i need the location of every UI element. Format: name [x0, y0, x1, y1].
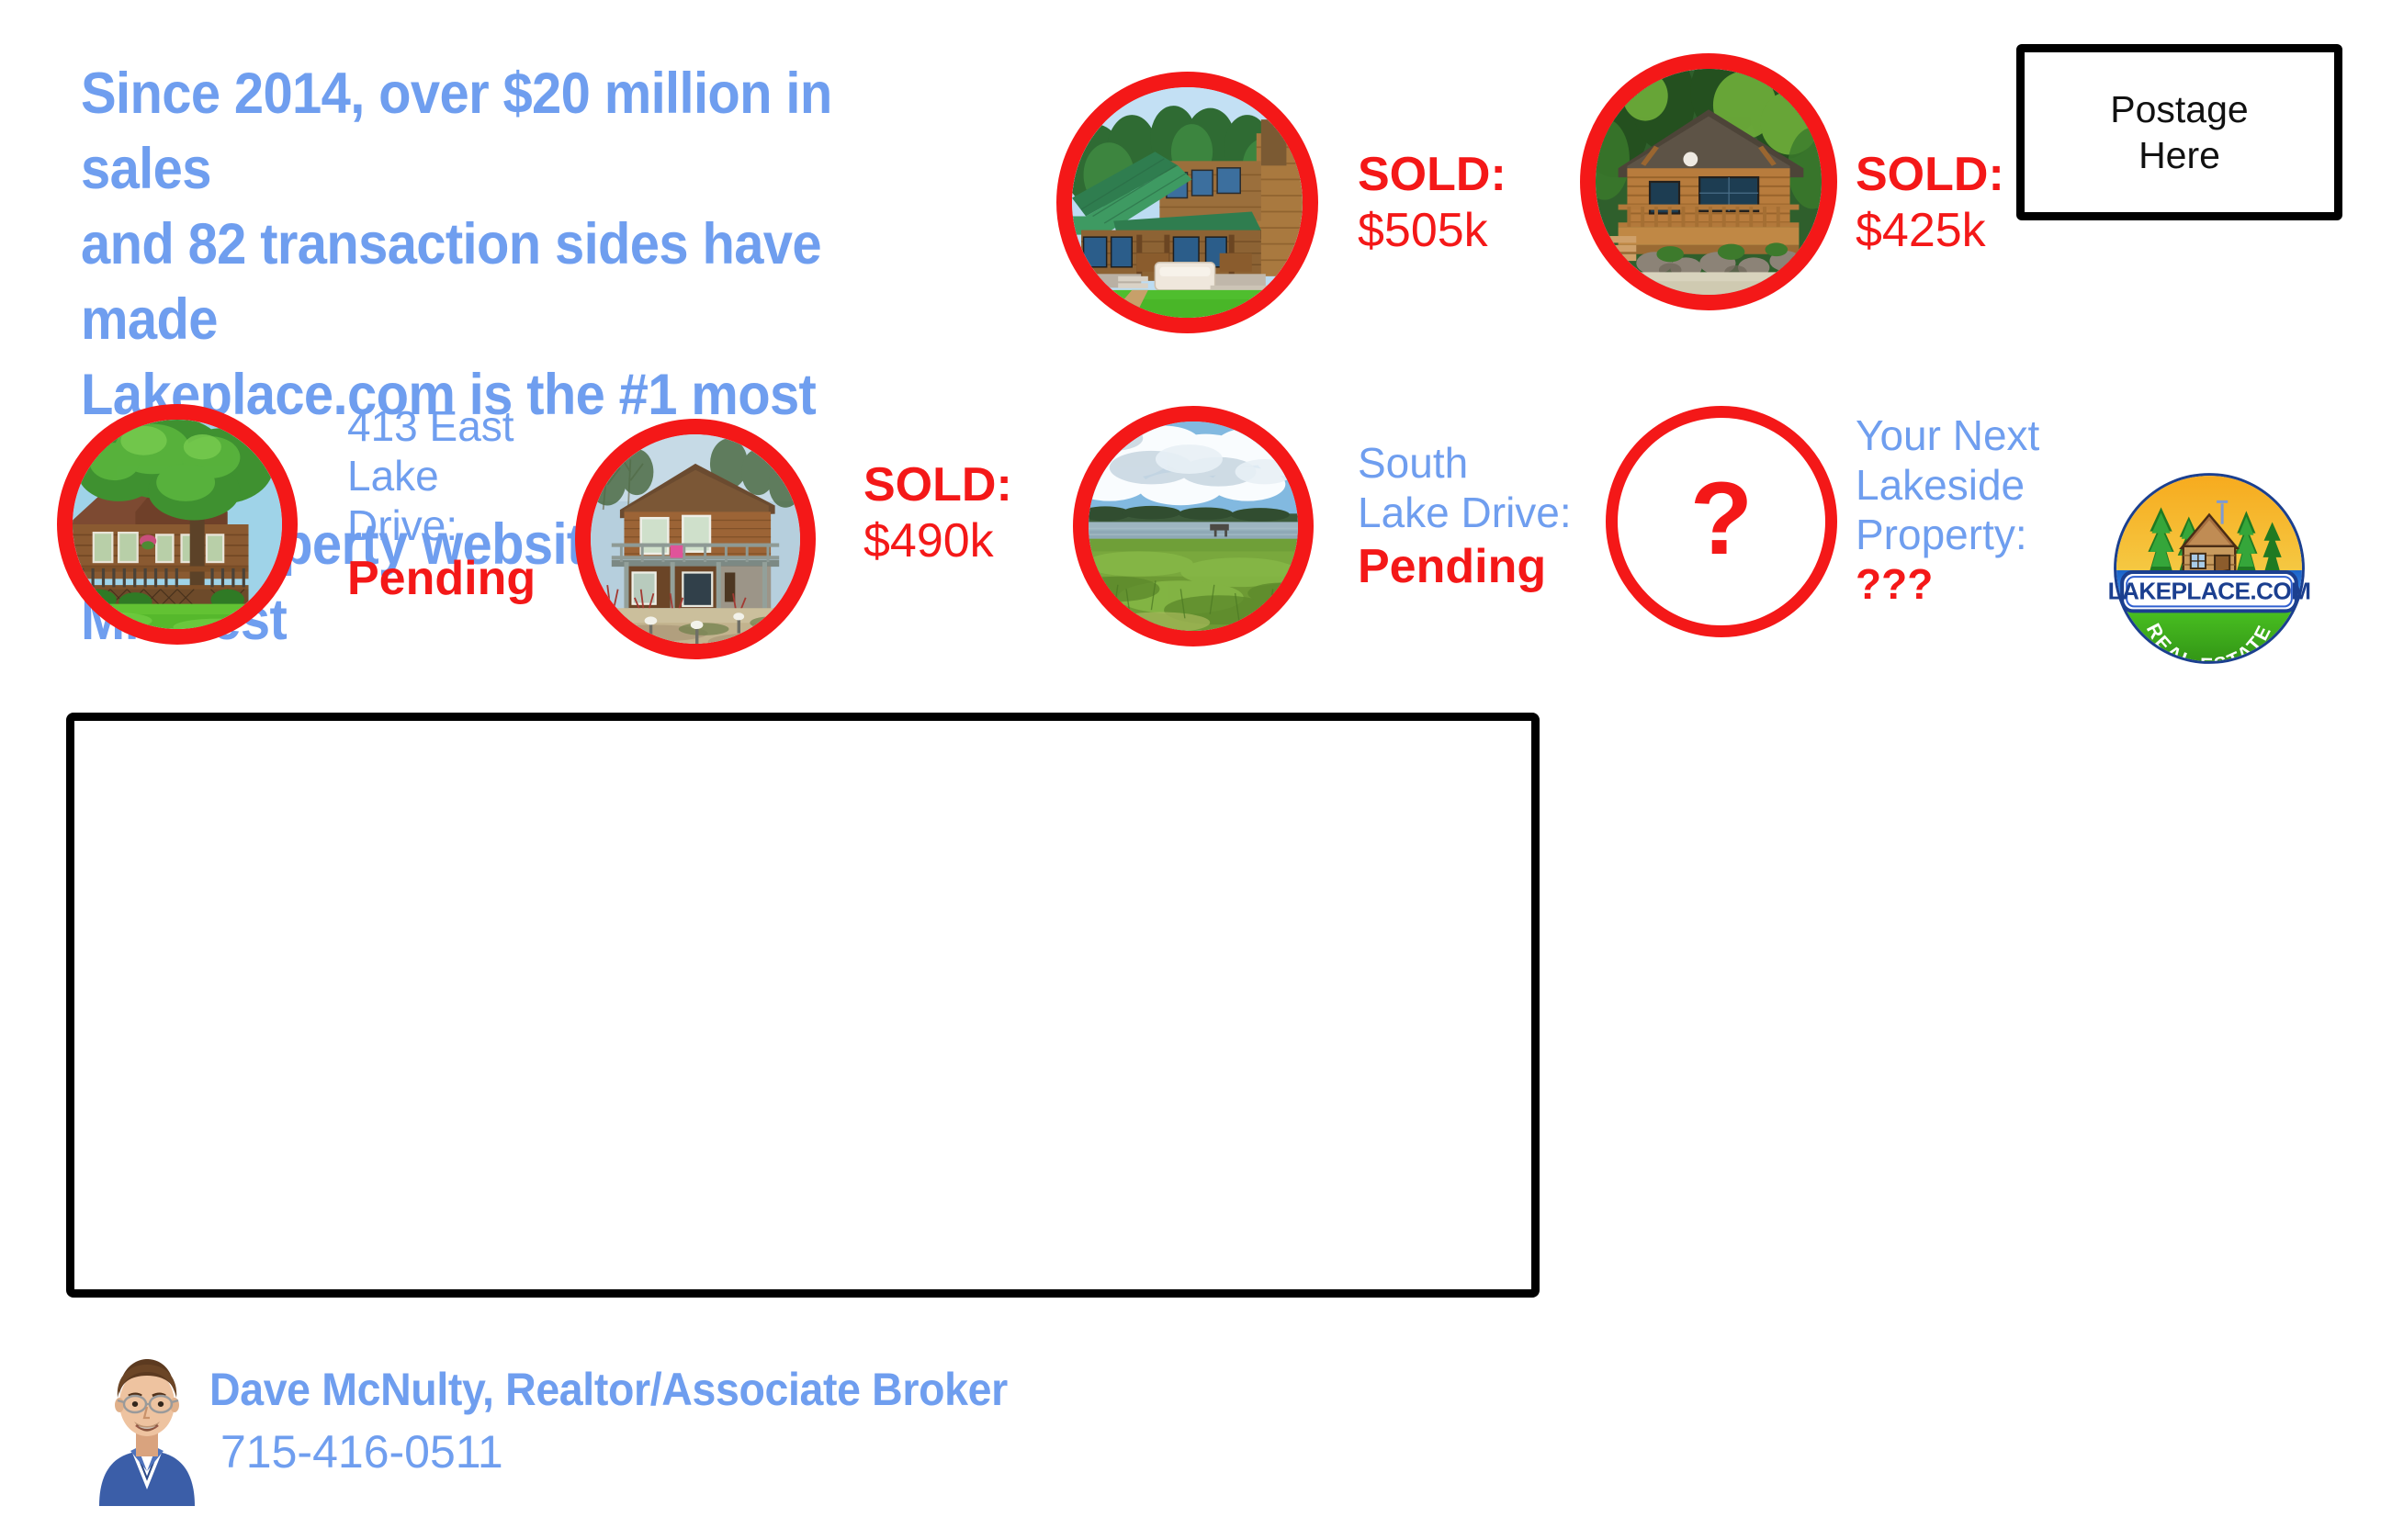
brand-wordmark: LAKEPLACE.COM — [2108, 577, 2311, 604]
postage-line-2: Here — [2138, 132, 2220, 178]
lakeplace-logo[interactable]: REAL ESTATE LAKEPLACE.COM — [2107, 466, 2311, 670]
property-label-413-east-lake-drive: 413 East Lake Drive: — [347, 402, 536, 550]
property-photo-south-lake-drive-image — [1089, 422, 1298, 631]
property-label-south-lake-drive: South Lake Drive: — [1358, 439, 1572, 538]
property-photo-490k-image — [591, 434, 800, 644]
property-caption-south-lake-drive: South Lake Drive: Pending — [1358, 439, 1572, 595]
property-photo-413-east-lake-drive — [57, 404, 298, 645]
postage-box: Postage Here — [2016, 44, 2342, 220]
property-caption-your-next: Your Next Lakeside Property: ??? — [1856, 411, 2039, 611]
agent-headshot — [96, 1333, 198, 1506]
question-mark-icon: ? — [1690, 467, 1753, 570]
property-photo-south-lake-drive — [1073, 406, 1314, 646]
property-photo-425k-image — [1596, 69, 1822, 295]
agent-phone[interactable]: 715-416-0511 — [220, 1425, 503, 1478]
agent-name: Dave McNulty, Realtor/Associate Broker — [209, 1363, 1008, 1416]
property-label-505k: SOLD: — [1358, 147, 1506, 203]
postage-line-1: Postage — [2110, 86, 2248, 132]
property-photo-505k — [1056, 72, 1318, 333]
property-value-505k: $505k — [1358, 203, 1506, 259]
property-label-425k: SOLD: — [1856, 147, 2004, 203]
property-value-425k: $425k — [1856, 203, 2004, 259]
property-photo-your-next: ? — [1606, 406, 1837, 637]
property-value-south-lake-drive: Pending — [1358, 538, 1572, 595]
property-caption-490k: SOLD: $490k — [863, 457, 1012, 569]
property-photo-490k — [575, 419, 816, 659]
property-photo-413-east-lake-drive-image — [73, 420, 282, 629]
property-value-your-next: ??? — [1856, 559, 2039, 610]
postcard-canvas: Since 2014, over $20 million in sales an… — [0, 0, 2381, 1540]
property-photo-505k-image — [1072, 87, 1303, 318]
property-label-490k: SOLD: — [863, 457, 1012, 513]
property-caption-425k: SOLD: $425k — [1856, 147, 2004, 259]
property-label-your-next: Your Next Lakeside Property: — [1856, 411, 2039, 559]
address-block[interactable] — [66, 713, 1540, 1298]
property-photo-425k — [1580, 53, 1837, 310]
property-value-413-east-lake-drive: Pending — [347, 550, 536, 607]
property-caption-413-east-lake-drive: 413 East Lake Drive: Pending — [347, 402, 536, 608]
property-caption-505k: SOLD: $505k — [1358, 147, 1506, 259]
property-value-490k: $490k — [863, 513, 1012, 569]
